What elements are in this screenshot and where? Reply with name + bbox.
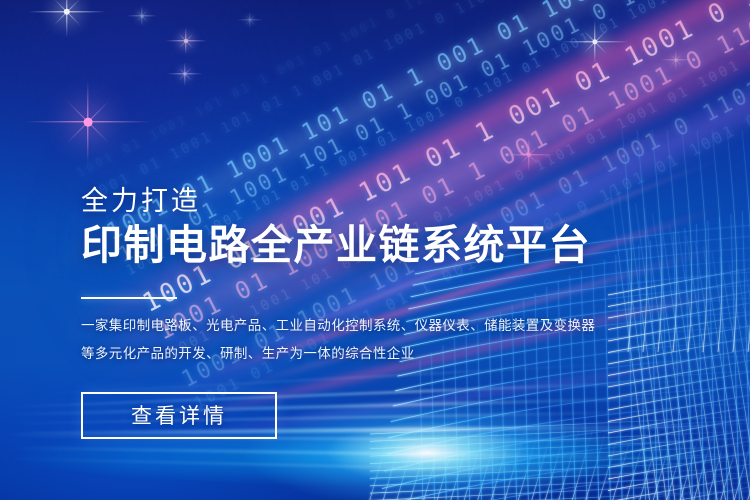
description-line-2: 等多元化产品的开发、研制、生产为一体的综合性企业 (81, 344, 601, 365)
view-details-button[interactable]: 查看详情 (81, 392, 277, 439)
hero-copy: 全力打造 印制电路全产业链系统平台 一家集印制电路板、光电产品、工业自动化控制系… (81, 186, 601, 439)
description-block: 一家集印制电路板、光电产品、工业自动化控制系统、仪器仪表、储能装置及变换器 等多… (81, 316, 601, 365)
eyebrow-text: 全力打造 (81, 186, 601, 217)
description-line-1: 一家集印制电路板、光电产品、工业自动化控制系统、仪器仪表、储能装置及变换器 (81, 316, 601, 337)
hero-banner: 1001 01 1001 101 01 1 001 01 1001 0 1101… (0, 0, 750, 500)
page-title: 印制电路全产业链系统平台 (81, 223, 601, 269)
divider-rule (81, 297, 177, 299)
